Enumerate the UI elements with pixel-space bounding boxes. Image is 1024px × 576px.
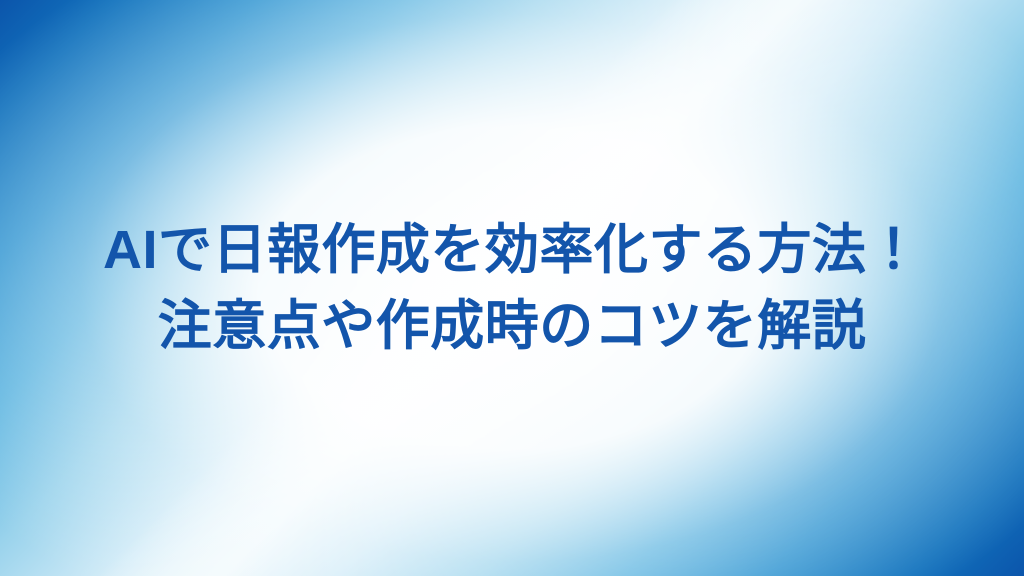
headline-line-2: 注意点や作成時のコツを解説	[40, 288, 984, 364]
headline-block: AIで日報作成を効率化する方法！ 注意点や作成時のコツを解説	[0, 212, 1024, 364]
headline-line-1: AIで日報作成を効率化する方法！	[40, 212, 984, 288]
title-card: AIで日報作成を効率化する方法！ 注意点や作成時のコツを解説	[0, 0, 1024, 576]
